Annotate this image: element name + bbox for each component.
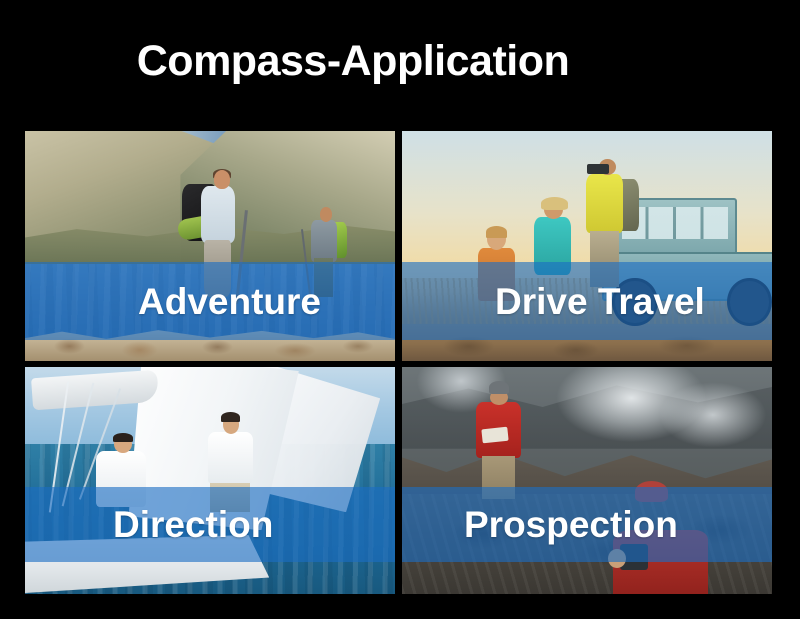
prospection-photo [402,367,772,594]
hiker-back-figure [299,207,351,299]
card-prospection[interactable]: Prospection [402,367,772,594]
woman-figure [524,200,583,297]
near-rock-field-shape [402,494,772,594]
sailor-left-figure [92,435,151,517]
geologist-beanie-shape [489,381,509,394]
hiker-legs-shape [204,240,232,297]
hiker2-torso-shape [311,220,337,262]
hiker-torso-shape [201,186,235,243]
trekking-pole2-shape [301,229,311,295]
page-title: Compass-Application [0,36,706,86]
woman-hat-shape [541,197,568,210]
sailor-right-figure [203,415,259,510]
card-drive-travel[interactable]: Drive Travel [402,131,772,361]
hiker2-head-shape [320,207,332,222]
direction-photo [25,367,395,594]
hiker-front-figure [177,170,258,313]
trekking-pole-shape [235,210,248,304]
boy-figure [472,228,520,302]
adventure-photo [25,131,395,361]
sailor-left-hair-shape [113,433,133,443]
card-direction[interactable]: Direction [25,367,395,594]
geologist2-beanie-shape [635,481,668,502]
sailor-right-torso-shape [208,432,252,483]
poster-stage: Compass-Application [0,0,800,619]
geologist2-hand-shape [608,549,626,568]
vehicle-rear-wheel-shape [727,278,772,327]
dirt-ground-shape [402,324,772,361]
binoculars-shape [587,164,610,174]
drive-travel-photo [402,131,772,361]
sailor-left-torso-shape [96,451,146,507]
woman-torso-shape [534,217,572,275]
hiker-head-shape [214,170,230,189]
geologist-crouching-figure [602,481,713,595]
hiker2-legs-shape [314,258,333,297]
geologist-standing-figure [469,381,528,499]
man-torso-shape [586,174,623,233]
notebook-shape [481,426,508,443]
sailor-right-legs-shape [210,481,250,512]
sailor-right-hair-shape [221,412,240,422]
card-adventure[interactable]: Adventure [25,131,395,361]
category-grid: Adventure [25,131,772,594]
boy-torso-shape [478,248,515,301]
man-legs-shape [590,231,619,288]
geologist-legs-shape [482,456,515,498]
boy-hair-shape [486,226,507,238]
